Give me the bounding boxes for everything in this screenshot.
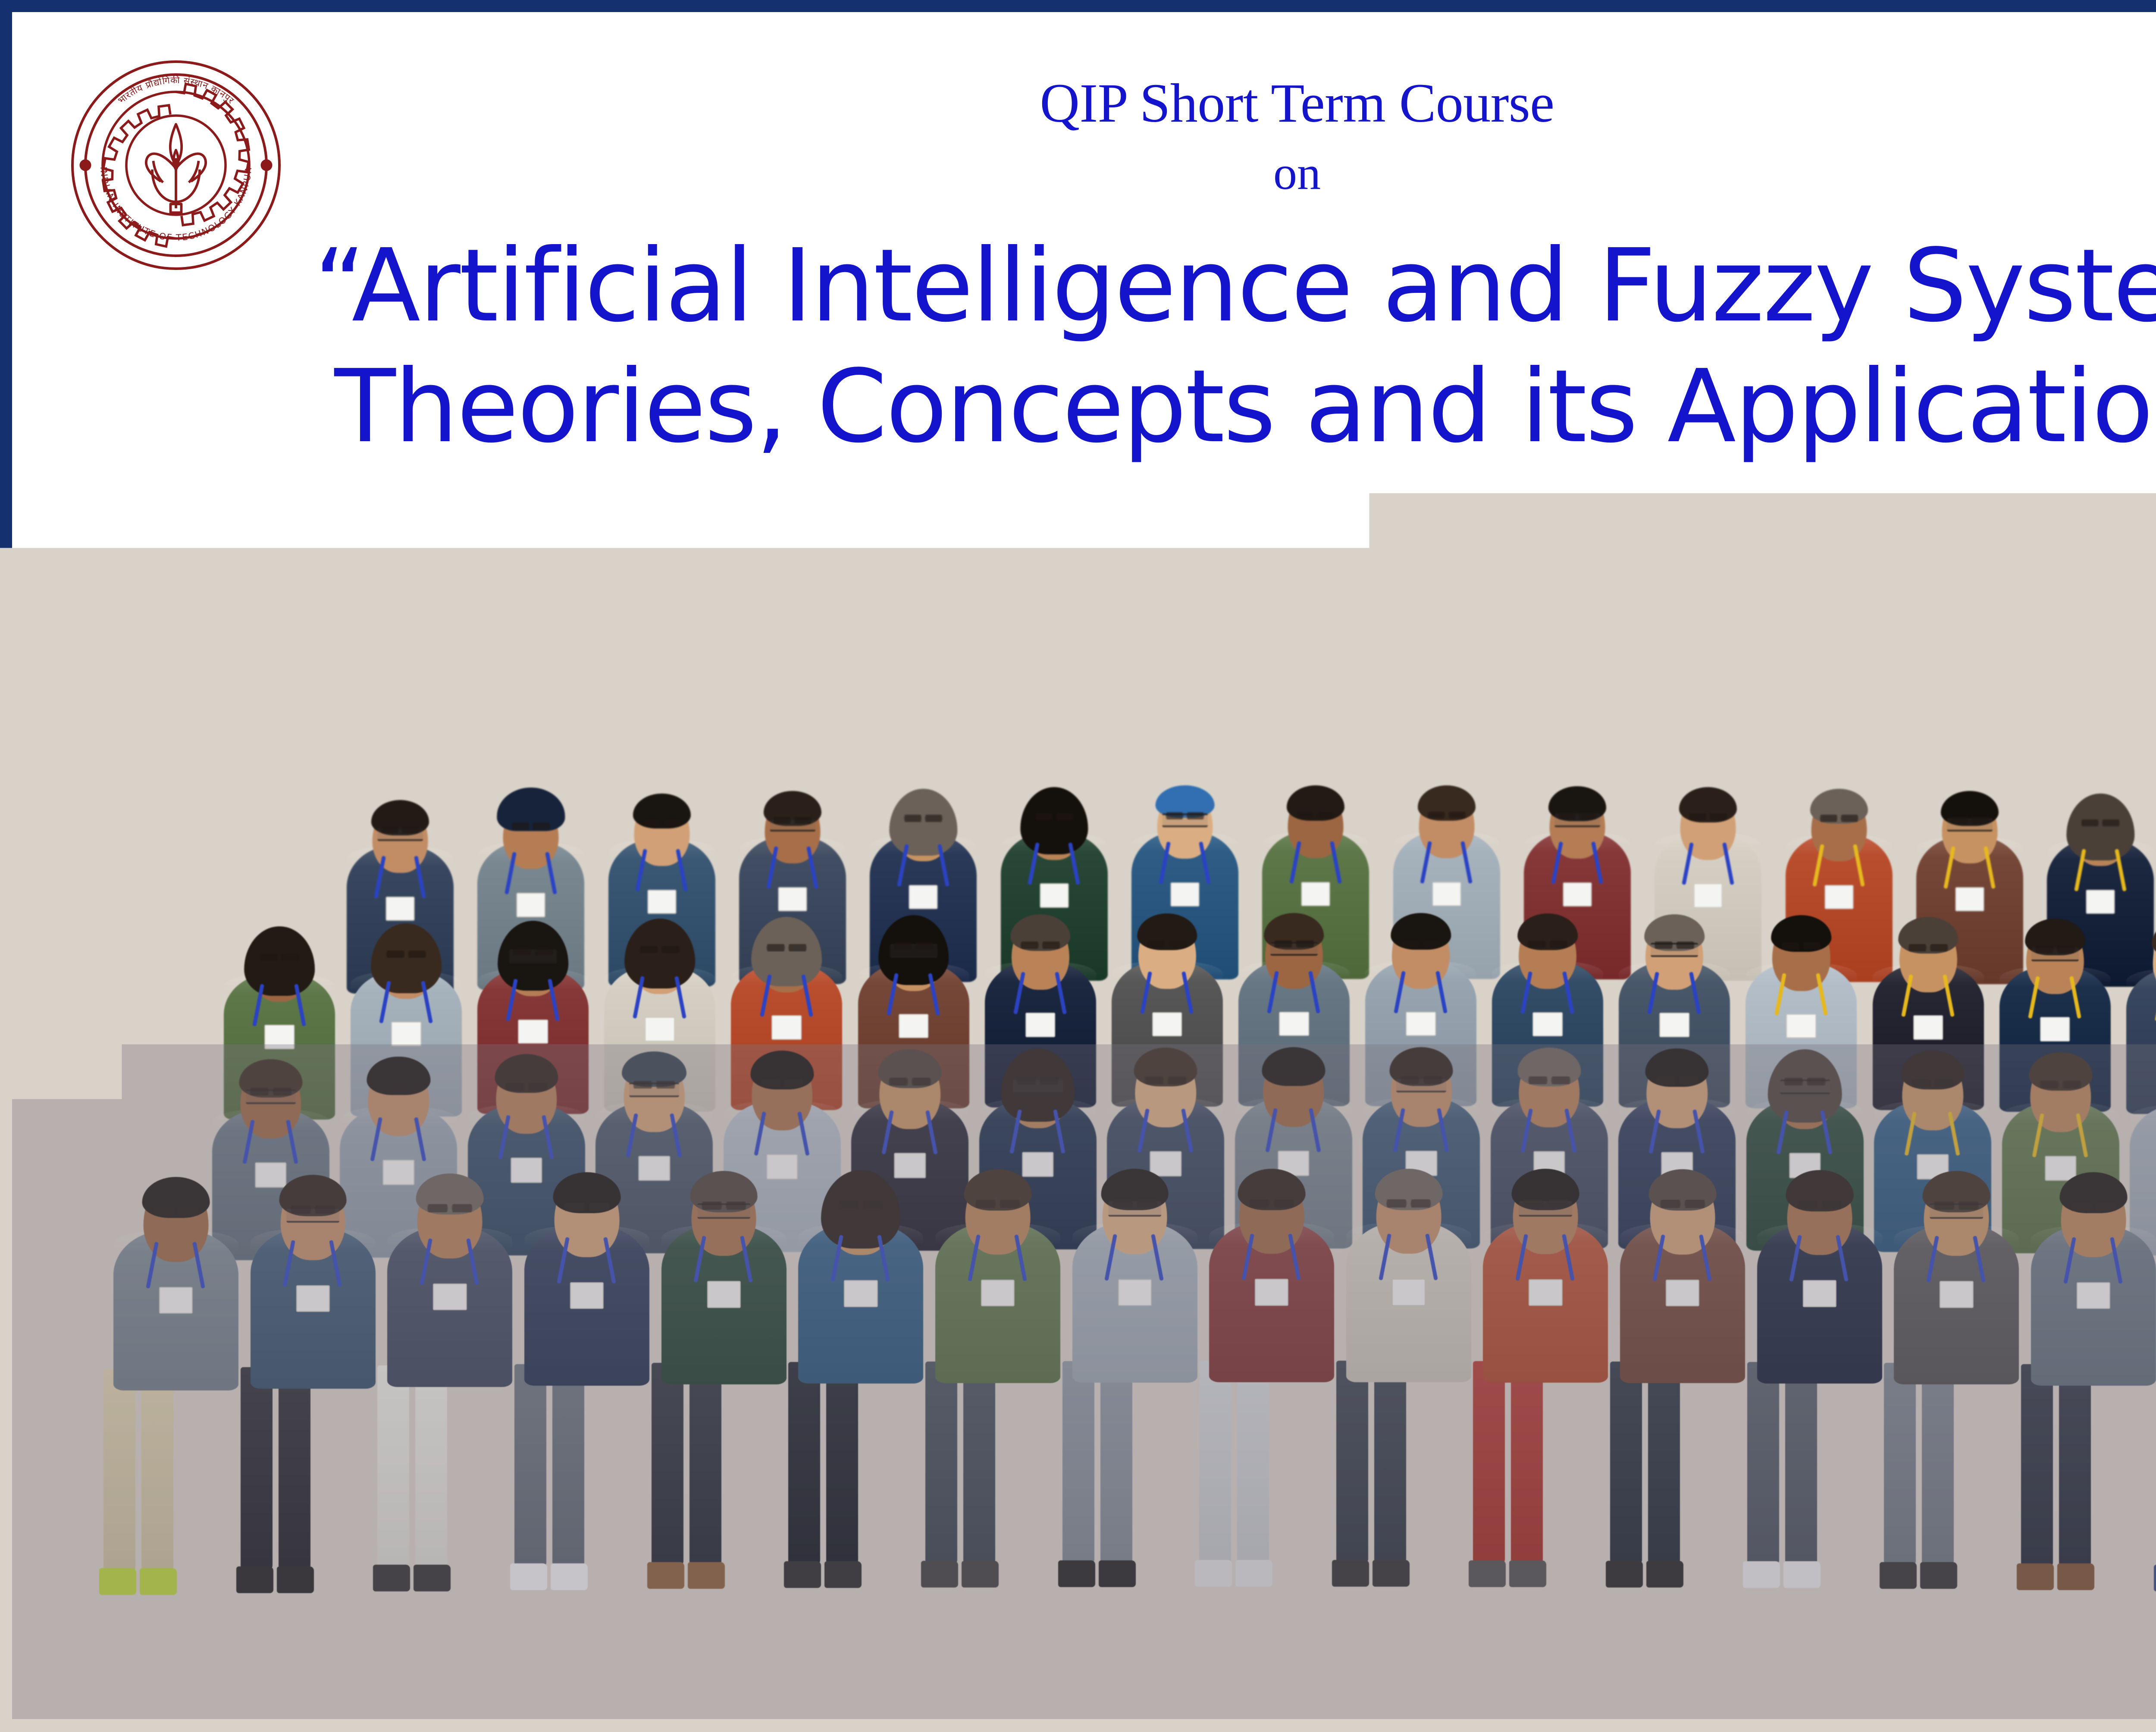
shoulder-shading	[2126, 969, 2156, 989]
participant-face-features	[1654, 941, 1695, 949]
poster-header: भारतीय प्रौद्योगिकी संस्थान कानपुर INDIA…	[12, 12, 2156, 606]
participant-face-features	[1527, 941, 1569, 948]
participant-face-features	[1016, 1077, 1060, 1085]
step-edge	[12, 965, 254, 971]
participant-face-features	[1907, 944, 1949, 951]
participant-face-features	[639, 946, 681, 953]
id-badge	[1940, 1281, 1973, 1308]
participant-face-features	[512, 948, 554, 955]
participant-face-features	[259, 954, 301, 961]
id-badge	[844, 1280, 877, 1307]
title-block: QIP Short Term Course on “Artificial Int…	[314, 68, 2156, 467]
participant	[1072, 1158, 1197, 1383]
participant-face-features	[377, 1085, 421, 1093]
participant	[387, 1163, 512, 1387]
participant-face-features	[1272, 1076, 1316, 1084]
course-line: QIP Short Term Course	[314, 68, 2156, 139]
poster-frame: भारतीय प्रौद्योगिकी संस्थान कानपुर INDIA…	[0, 0, 2156, 1732]
iit-logo-hindi-text: भारतीय प्रौद्योगिकी संस्थान कानपुर	[116, 75, 236, 106]
participant-face-features	[760, 1079, 804, 1087]
participant-face-features	[1400, 940, 1442, 948]
participant	[1894, 1160, 2019, 1384]
id-badge	[2040, 1017, 2070, 1041]
id-badge	[1786, 1014, 1817, 1038]
participant-face-features	[1557, 812, 1598, 819]
participant	[251, 1164, 376, 1389]
participant-face-features	[1950, 817, 1990, 824]
participant-face-features	[380, 826, 420, 833]
id-badge	[1025, 1013, 1056, 1037]
id-badge	[707, 1281, 740, 1308]
id-badge	[1694, 883, 1723, 907]
participant-face-features	[1111, 1199, 1158, 1208]
participant-hair	[752, 917, 822, 987]
step-tier	[12, 1089, 185, 1162]
participant-face-features	[1296, 812, 1336, 819]
participant-face-features	[1659, 1200, 1706, 1208]
participant-hair	[821, 1170, 900, 1249]
svg-text:भारतीय प्रौद्योगिकी संस्थान का: भारतीय प्रौद्योगिकी संस्थान कानपुर	[116, 75, 236, 106]
participant-face-features	[903, 815, 943, 822]
participant-face-features	[426, 1204, 473, 1212]
id-badge	[1118, 1279, 1151, 1306]
participant-face-features	[1399, 1076, 1443, 1084]
participant-face-features	[2081, 819, 2121, 826]
id-badge	[264, 1025, 295, 1049]
id-badge	[1301, 882, 1330, 906]
id-badge	[1171, 882, 1200, 907]
id-badge	[570, 1282, 604, 1309]
id-badge	[518, 1020, 548, 1044]
participant-face-features	[642, 819, 682, 826]
participant	[1346, 1158, 1471, 1382]
id-badge	[645, 1017, 675, 1041]
participant-face-features	[1819, 815, 1859, 822]
id-badge	[1529, 1279, 1562, 1306]
main-title-line-2: Theories, Concepts and its Application”	[314, 346, 2156, 467]
participant	[1483, 1158, 1608, 1383]
participant-face-features	[773, 817, 813, 824]
participant-face-features	[2070, 1203, 2117, 1211]
participant-face-features	[511, 822, 551, 829]
participant-face-features	[289, 1205, 336, 1214]
participant-face-features	[632, 1081, 676, 1089]
participant	[1757, 1159, 1882, 1384]
participant-face-features	[1385, 1199, 1432, 1208]
id-badge	[1532, 1012, 1563, 1036]
id-badge	[1913, 1015, 1943, 1039]
id-badge	[1152, 1012, 1182, 1036]
participant-face-features	[2039, 1081, 2083, 1089]
participant	[1620, 1159, 1745, 1383]
participant-face-features	[1911, 1079, 1955, 1087]
participant-hair	[890, 789, 957, 856]
id-badge	[1255, 1279, 1288, 1305]
id-badge	[2077, 1282, 2110, 1309]
shoulder-shading	[2130, 1104, 2156, 1126]
participant-face-features	[1019, 941, 1061, 949]
participant-face-features	[1933, 1202, 1980, 1210]
participant-hair	[244, 926, 315, 996]
id-badge	[391, 1022, 421, 1046]
participant-face-features	[1796, 1201, 1843, 1209]
poster-body: भारतीय प्रौद्योगिकी संस्थान कानपुर INDIA…	[12, 12, 2156, 1719]
participant-face-features	[1527, 1076, 1571, 1084]
group-photograph	[12, 606, 2156, 1719]
iit-kanpur-logo: भारतीय प्रौद्योगिकी संस्थान कानपुर INDIA…	[68, 57, 284, 273]
participant-face-features	[1248, 1199, 1295, 1208]
id-badge	[159, 1287, 193, 1314]
participant	[798, 1159, 923, 1384]
id-badge	[981, 1280, 1015, 1306]
id-badge	[1563, 882, 1592, 907]
participant-face-features	[1783, 1078, 1827, 1086]
id-badge	[1666, 1280, 1699, 1306]
step-edge	[12, 1021, 219, 1027]
id-badge	[1659, 1013, 1689, 1037]
participant-face-features	[1144, 1076, 1188, 1084]
participant-hair	[2067, 794, 2134, 860]
participant-face-features	[249, 1088, 293, 1095]
participant-face-features	[1426, 812, 1467, 819]
participant-face-features	[1655, 1077, 1699, 1085]
id-badge	[1803, 1280, 1836, 1307]
step-tier	[12, 1024, 219, 1089]
id-badge	[1432, 882, 1461, 906]
id-badge	[1406, 1012, 1436, 1036]
step-tier	[12, 968, 254, 1024]
pavement	[12, 1430, 2156, 1719]
participant-face-features	[1034, 813, 1074, 820]
participant-hair	[625, 919, 696, 988]
participant-face-features	[975, 1200, 1022, 1208]
participant-face-features	[153, 1207, 200, 1215]
participant-face-features	[1147, 941, 1188, 948]
id-badge	[1392, 1279, 1426, 1305]
participant-hair	[1020, 787, 1088, 854]
participant-face-features	[888, 1078, 932, 1086]
participant	[524, 1161, 649, 1386]
participant	[661, 1160, 787, 1384]
id-badge	[1040, 883, 1069, 907]
participant-face-features	[385, 951, 427, 958]
participant-face-features	[1165, 812, 1205, 819]
main-title-line-1: “Artificial Intelligence and Fuzzy Syste…	[314, 226, 2156, 346]
participant-face-features	[1522, 1199, 1569, 1208]
participant-face-features	[1273, 940, 1315, 948]
id-badge	[899, 1014, 929, 1038]
participant-face-features	[1780, 942, 1822, 950]
participant-face-features	[766, 944, 808, 951]
step-edge	[12, 1086, 185, 1092]
id-badge	[772, 1015, 802, 1039]
participant-face-features	[893, 942, 934, 950]
participant-hair	[371, 923, 442, 993]
organizer-line: Organized by: Centre for Continuing Educ…	[12, 542, 2156, 581]
id-badge	[433, 1283, 467, 1310]
participant	[2031, 1161, 2156, 1386]
participant-face-features	[1688, 813, 1728, 820]
participant-face-features	[837, 1201, 884, 1209]
on-word: on	[314, 139, 2156, 208]
participant-face-features	[564, 1203, 611, 1211]
participant	[113, 1166, 238, 1390]
participant	[1209, 1158, 1334, 1382]
participant-face-features	[700, 1202, 747, 1210]
participant-face-features	[505, 1083, 548, 1091]
participant-face-features	[2034, 946, 2076, 953]
id-badge	[1279, 1012, 1309, 1036]
id-badge	[296, 1285, 329, 1312]
participant	[935, 1159, 1060, 1383]
